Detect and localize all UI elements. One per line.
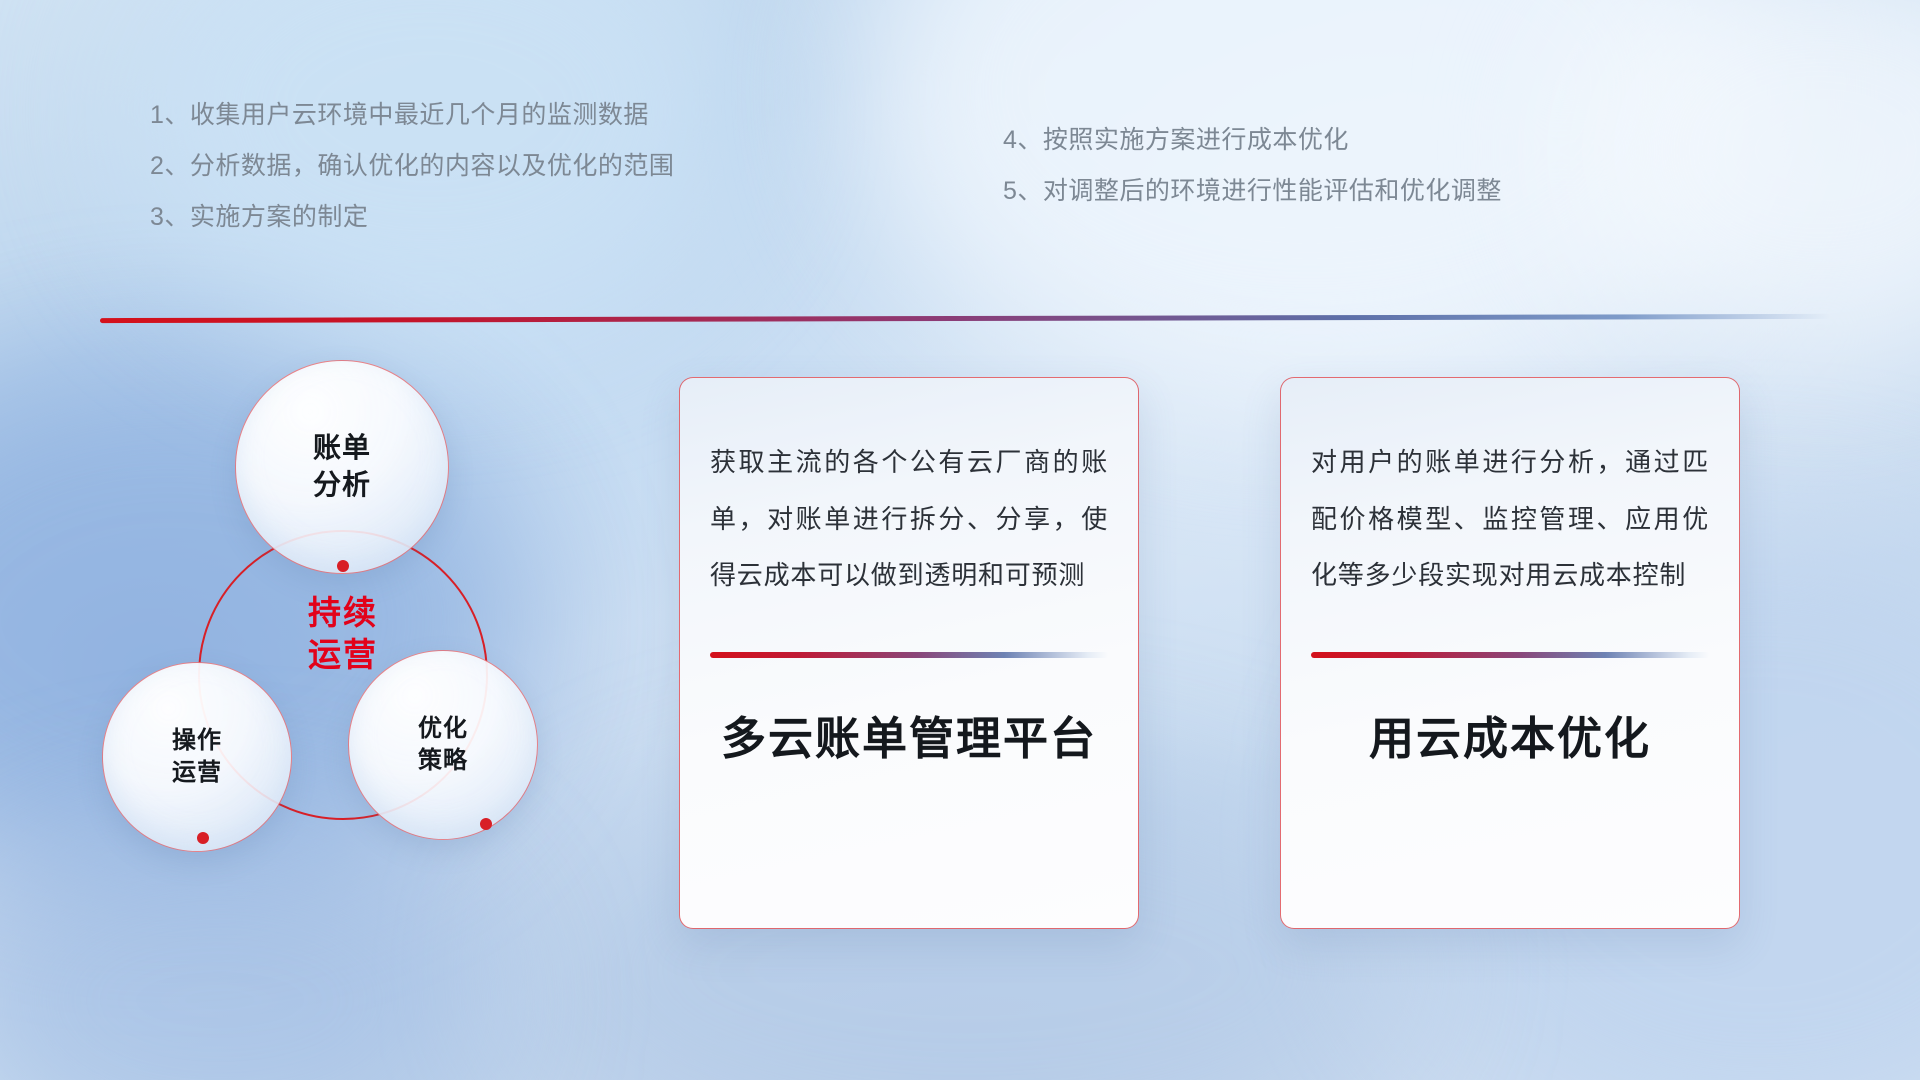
node-label-line2: 策略: [418, 745, 468, 777]
connector-dot-icon: [197, 832, 209, 844]
step-item: 5、对调整后的环境进行性能评估和优化调整: [1003, 179, 1502, 204]
node-label-line1: 操作: [172, 725, 222, 757]
node-label-line1: 优化: [418, 713, 468, 745]
card-body-text: 对用户的账单进行分析，通过匹配价格模型、监控管理、应用优化等多少段实现对用云成本…: [1311, 434, 1709, 604]
node-label-line1: 账单: [313, 430, 371, 467]
card-title: 用云成本优化: [1311, 702, 1709, 767]
node-label-line2: 分析: [313, 467, 371, 504]
diagram-center-label: 持续 运营: [198, 592, 488, 676]
cycle-diagram: 账单 分析 操作 运营 优化 策略 持续 运营: [90, 360, 610, 940]
card-title: 多云账单管理平台: [710, 702, 1108, 767]
step-item: 3、实施方案的制定: [150, 205, 674, 230]
card-divider: [710, 652, 1108, 658]
diagram-node-bill-analysis[interactable]: 账单 分析: [235, 360, 449, 574]
feature-card-cloud-cost-optimization[interactable]: 对用户的账单进行分析，通过匹配价格模型、监控管理、应用优化等多少段实现对用云成本…: [1280, 377, 1740, 929]
steps-list-left: 1、收集用户云环境中最近几个月的监测数据 2、分析数据，确认优化的内容以及优化的…: [150, 103, 674, 230]
center-label-line1: 持续: [198, 592, 488, 634]
slide-canvas: 1、收集用户云环境中最近几个月的监测数据 2、分析数据，确认优化的内容以及优化的…: [0, 0, 1920, 1080]
step-item: 2、分析数据，确认优化的内容以及优化的范围: [150, 154, 674, 179]
connector-dot-icon: [337, 560, 349, 572]
card-divider: [1311, 652, 1709, 658]
step-item: 1、收集用户云环境中最近几个月的监测数据: [150, 103, 674, 128]
connector-dot-icon: [480, 818, 492, 830]
card-body-text: 获取主流的各个公有云厂商的账单，对账单进行拆分、分享，使得云成本可以做到透明和可…: [710, 434, 1108, 604]
background-blob: [1560, 0, 1920, 360]
diagram-node-optimization-strategy[interactable]: 优化 策略: [348, 650, 538, 840]
feature-card-multi-cloud-bill-platform[interactable]: 获取主流的各个公有云厂商的账单，对账单进行拆分、分享，使得云成本可以做到透明和可…: [679, 377, 1139, 929]
divider-rule: [100, 314, 1830, 323]
steps-list-right: 4、按照实施方案进行成本优化 5、对调整后的环境进行性能评估和优化调整: [1003, 128, 1502, 204]
node-label-line2: 运营: [172, 757, 222, 789]
center-label-line2: 运营: [198, 634, 488, 676]
step-item: 4、按照实施方案进行成本优化: [1003, 128, 1502, 153]
diagram-node-operations[interactable]: 操作 运营: [102, 662, 292, 852]
